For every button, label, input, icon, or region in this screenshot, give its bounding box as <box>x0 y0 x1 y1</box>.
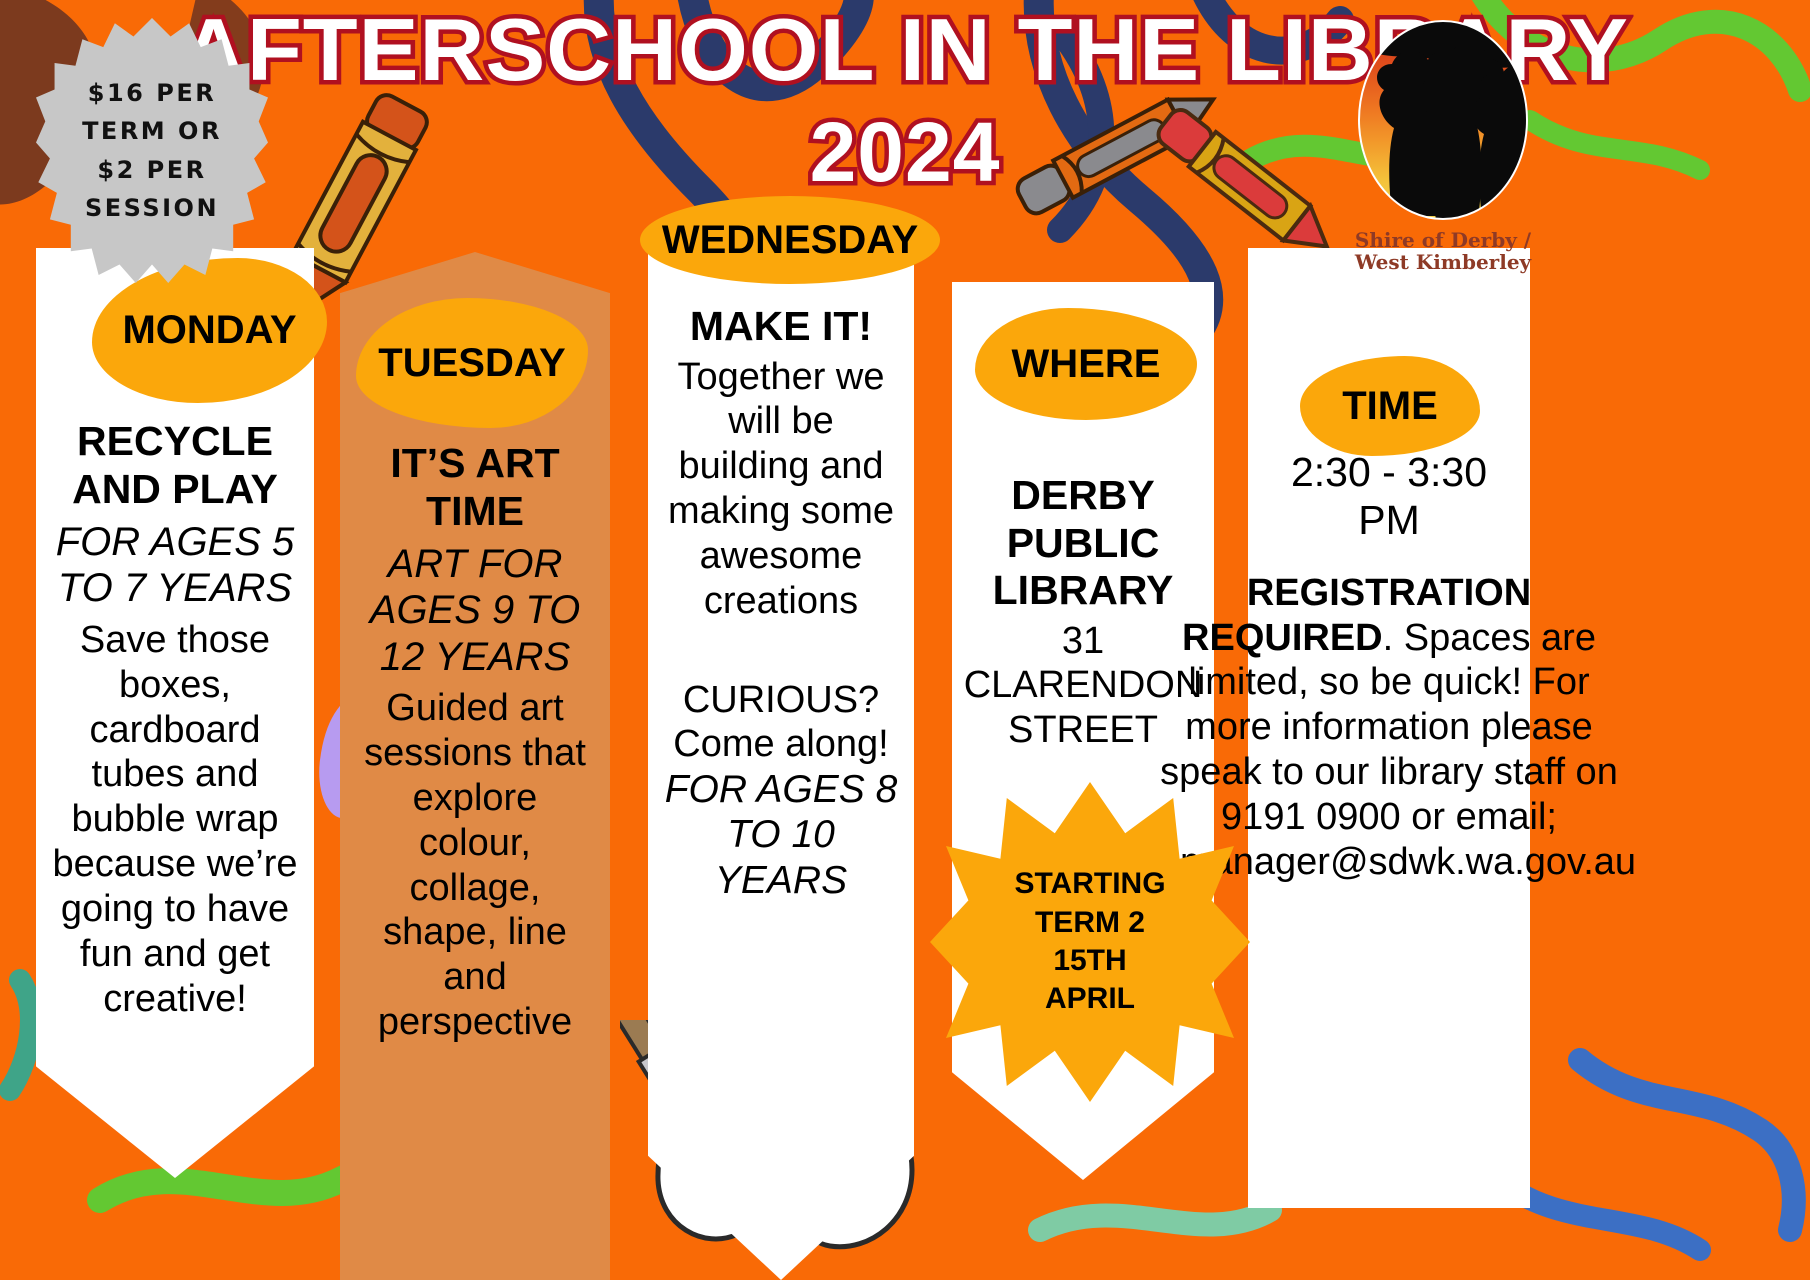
poster-canvas: AFTERSCHOOL IN THE LIBRARY 2024 $16 per … <box>0 0 1810 1280</box>
wednesday-body: Together we will be building and making … <box>660 355 902 624</box>
wednesday-subheading-2: FOR AGES 8 TO 10 YEARS <box>660 767 902 903</box>
shire-logo: Shire of Derby / West Kimberley <box>1348 20 1538 274</box>
starburst-line-4: APRIL <box>1045 980 1135 1018</box>
starburst-line-3: 15TH <box>1053 942 1126 980</box>
starburst-line-1: STARTING <box>1014 865 1165 903</box>
column-wednesday: MAKE IT! Together we will be building an… <box>648 245 914 1280</box>
title-line-1: AFTERSCHOOL IN THE LIBRARY <box>0 6 1810 94</box>
monday-heading: RECYCLE AND PLAY <box>48 418 302 513</box>
logo-name-line-2: West Kimberley <box>1348 251 1538 273</box>
badge-time-label: TIME <box>1342 384 1438 429</box>
monday-body: Save those boxes, cardboard tubes and bu… <box>48 618 302 1021</box>
registration-period: . <box>1383 617 1394 659</box>
price-starburst-badge: $16 per term or $2 per session <box>36 18 268 283</box>
price-line-4: session <box>85 195 219 221</box>
tuesday-body: Guided art sessions that explore colour,… <box>352 686 598 1045</box>
tuesday-heading: IT’S ART TIME <box>352 440 598 535</box>
title-line-2: 2024 <box>0 110 1810 194</box>
wednesday-body-2: CURIOUS? Come along! <box>660 678 902 768</box>
tuesday-subheading: ART FOR AGES 9 TO 12 YEARS <box>352 541 598 680</box>
badge-wednesday: WEDNESDAY <box>640 196 940 284</box>
starburst-line-2: TERM 2 <box>1035 904 1145 942</box>
price-line-3: $2 per <box>97 157 206 183</box>
wednesday-heading: MAKE IT! <box>690 303 872 351</box>
badge-wednesday-label: WEDNESDAY <box>662 218 918 263</box>
monday-subheading: FOR AGES 5 TO 7 YEARS <box>48 519 302 612</box>
price-line-2: term or <box>82 118 222 144</box>
price-line-1: $16 per <box>88 80 216 106</box>
boab-tree-sunset-icon <box>1358 20 1528 220</box>
crayon-gray-icon <box>1010 80 1240 260</box>
badge-tuesday-label: TUESDAY <box>378 341 565 386</box>
poster-title: AFTERSCHOOL IN THE LIBRARY 2024 <box>0 6 1810 194</box>
badge-where-label: WHERE <box>1012 342 1161 387</box>
time-value: 2:30 - 3:30 PM <box>1260 448 1518 545</box>
badge-monday-label: MONDAY <box>122 308 296 353</box>
logo-name-line-1: Shire of Derby / <box>1348 229 1538 251</box>
